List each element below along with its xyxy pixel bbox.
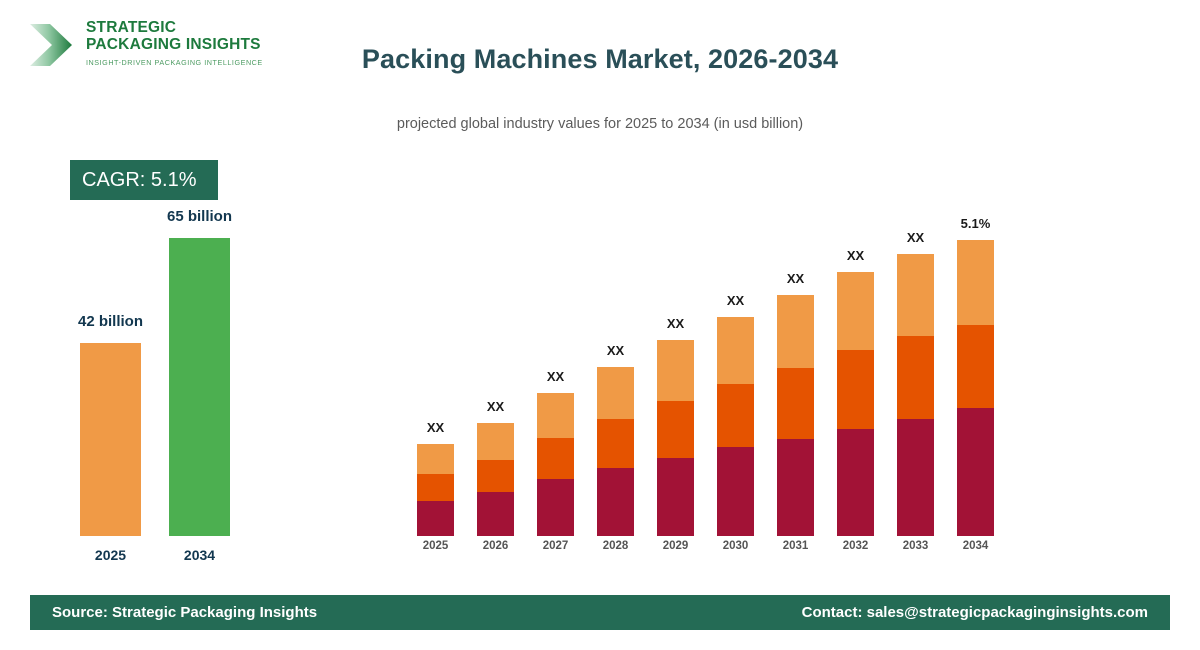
bar-segment-segment-bottom	[537, 479, 574, 536]
stacked-bar-label-2028: XX	[576, 343, 656, 358]
bar-segment-segment-bottom	[417, 501, 454, 536]
bar-segment-segment-top	[477, 423, 514, 460]
bar-segment-segment-top	[657, 340, 694, 401]
stacked-bar-label-2034: 5.1%	[936, 216, 1016, 231]
bar-segment-segment-bottom	[717, 447, 754, 536]
bar-segment-segment-top	[417, 444, 454, 474]
stacked-bar-chart: XX2025XX2026XX2027XX2028XX2029XX2030XX20…	[0, 0, 1200, 650]
bar-segment-segment-middle	[417, 474, 454, 501]
bar-segment-segment-middle	[897, 336, 934, 419]
bar-segment-segment-bottom	[837, 429, 874, 536]
bar-segment-segment-top	[957, 240, 994, 325]
bar-segment-segment-bottom	[477, 492, 514, 536]
stacked-bar-label-2026: XX	[456, 399, 536, 414]
stacked-bar-2031	[777, 295, 814, 536]
stacked-bar-2028	[597, 367, 634, 536]
footer-contact: Contact: sales@strategicpackaginginsight…	[802, 604, 1148, 621]
bar-segment-segment-top	[897, 254, 934, 336]
bar-segment-segment-top	[717, 317, 754, 384]
infographic-canvas: STRATEGIC PACKAGING INSIGHTS INSIGHT-DRI…	[0, 0, 1200, 650]
bar-segment-segment-bottom	[957, 408, 994, 536]
stacked-bar-2025	[417, 444, 454, 536]
stacked-bar-label-2030: XX	[696, 293, 776, 308]
bar-segment-segment-top	[537, 393, 574, 438]
stacked-bar-label-2031: XX	[756, 271, 836, 286]
stacked-bar-2026	[477, 423, 514, 536]
bar-segment-segment-middle	[537, 438, 574, 479]
bar-segment-segment-top	[777, 295, 814, 368]
bar-segment-segment-middle	[657, 401, 694, 458]
bar-segment-segment-middle	[957, 325, 994, 408]
footer-bar: Source: Strategic Packaging Insights Con…	[30, 595, 1170, 630]
bar-segment-segment-middle	[777, 368, 814, 439]
bar-segment-segment-middle	[477, 460, 514, 492]
stacked-bar-label-2025: XX	[396, 420, 476, 435]
bar-segment-segment-bottom	[597, 468, 634, 536]
stacked-bar-2027	[537, 393, 574, 536]
stacked-bar-label-2027: XX	[516, 369, 596, 384]
bar-segment-segment-bottom	[657, 458, 694, 536]
bar-segment-segment-top	[597, 367, 634, 419]
stacked-bar-2029	[657, 340, 694, 536]
bar-segment-segment-middle	[837, 350, 874, 429]
bar-segment-segment-bottom	[777, 439, 814, 536]
bar-segment-segment-top	[837, 272, 874, 350]
stacked-bar-2034	[957, 240, 994, 536]
stacked-bar-label-2033: XX	[876, 230, 956, 245]
stacked-bar-year-2034: 2034	[936, 540, 1016, 552]
stacked-bar-2033	[897, 254, 934, 536]
stacked-bar-2030	[717, 317, 754, 536]
stacked-bar-label-2032: XX	[816, 248, 896, 263]
stacked-bar-2032	[837, 272, 874, 536]
stacked-bar-label-2029: XX	[636, 316, 716, 331]
bar-segment-segment-bottom	[897, 419, 934, 536]
bar-segment-segment-middle	[717, 384, 754, 447]
bar-segment-segment-middle	[597, 419, 634, 468]
footer-source: Source: Strategic Packaging Insights	[52, 604, 317, 621]
